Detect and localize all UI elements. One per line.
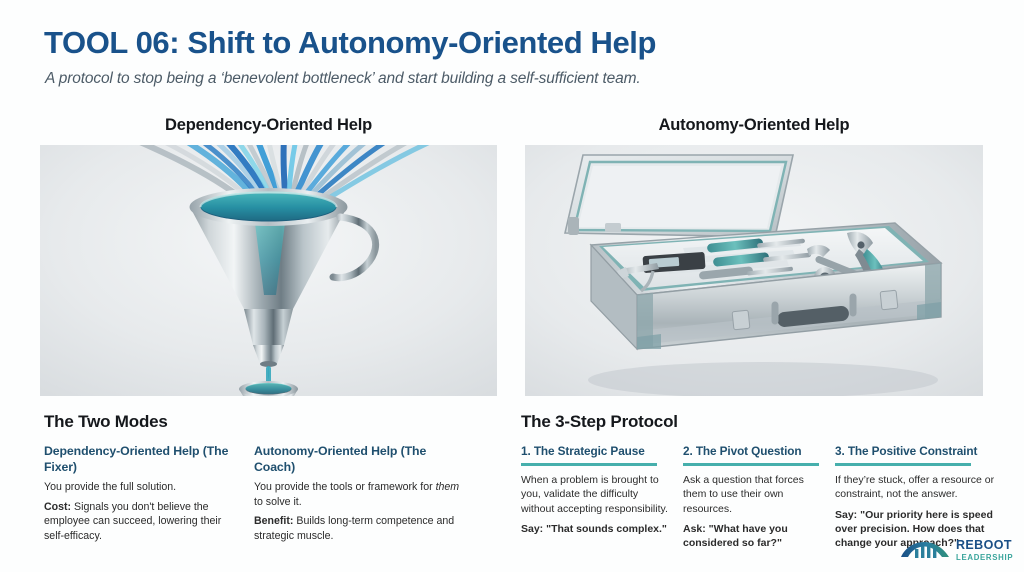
protocol-step-3-lead: If they’re stuck, offer a resource or co… [835, 473, 995, 502]
protocol-step-1-rule [521, 463, 657, 466]
mode-title-coach: Autonomy-Oriented Help (The Coach) [254, 444, 464, 475]
protocol-step-2-title: 2. The Pivot Question [683, 444, 829, 458]
mode-note-coach: Benefit: Builds long-term competence and… [254, 514, 464, 543]
mode-note-label-coach: Benefit: [254, 515, 293, 527]
section-heading-protocol: The 3-Step Protocol [521, 412, 678, 432]
mode-note-fixer: Cost: Signals you don't believe the empl… [44, 500, 244, 543]
protocol-step-3-title: 3. The Positive Constraint [835, 444, 995, 458]
mode-body-coach: You provide the tools or framework for t… [254, 480, 464, 543]
mode-lead-coach: You provide the tools or framework for t… [254, 480, 464, 509]
mode-lead-pre-coach: You provide the tools or framework for [254, 481, 436, 493]
protocol-step-3-quote-label: Say: [835, 509, 857, 521]
protocol-step-2-quote: Ask: "What have you considered so far?" [683, 522, 829, 551]
protocol-step-1-quote-text: "That sounds complex." [543, 523, 667, 535]
bridge-arch-icon: REBOOT LEADERSHIP [899, 533, 1015, 569]
logo-primary-text: REBOOT [956, 538, 1012, 552]
panel-caption-dependency: Dependency-Oriented Help [40, 116, 497, 135]
mode-note-label-fixer: Cost: [44, 501, 71, 513]
mode-title-fixer: Dependency-Oriented Help (The Fixer) [44, 444, 244, 475]
protocol-step-1-lead: When a problem is brought to you, valida… [521, 473, 673, 516]
mode-note-text-fixer: Signals you don't believe the employee c… [44, 501, 221, 542]
illustration-funnel [40, 145, 497, 396]
mode-card-fixer: Dependency-Oriented Help (The Fixer) You… [44, 444, 244, 543]
protocol-step-1-quote-label: Say: [521, 523, 543, 535]
page-title: TOOL 06: Shift to Autonomy-Oriented Help [44, 25, 656, 61]
toolbox-illustration-graphic [525, 145, 983, 396]
protocol-step-2-body: Ask a question that forces them to use t… [683, 473, 829, 550]
mode-lead-fixer: You provide the full solution. [44, 480, 244, 494]
protocol-step-2-lead: Ask a question that forces them to use t… [683, 473, 829, 516]
protocol-step-1: 1. The Strategic Pause When a problem is… [521, 444, 673, 536]
mode-lead-post-coach: to solve it. [254, 496, 302, 508]
protocol-step-2-rule [683, 463, 819, 466]
protocol-step-2: 2. The Pivot Question Ask a question tha… [683, 444, 829, 550]
protocol-step-1-body: When a problem is brought to you, valida… [521, 473, 673, 536]
section-heading-two-modes: The Two Modes [44, 412, 168, 432]
funnel-illustration-graphic [40, 145, 497, 396]
protocol-step-1-title: 1. The Strategic Pause [521, 444, 673, 458]
protocol-step-1-quote: Say: "That sounds complex." [521, 522, 673, 536]
illustration-toolbox [525, 145, 983, 396]
brand-logo: REBOOT LEADERSHIP [899, 533, 1015, 569]
logo-secondary-text: LEADERSHIP [956, 553, 1013, 562]
page-subtitle: A protocol to stop being a ‘benevolent b… [45, 70, 641, 88]
protocol-step-3-rule [835, 463, 971, 466]
mode-card-coach: Autonomy-Oriented Help (The Coach) You p… [254, 444, 464, 543]
panel-caption-autonomy: Autonomy-Oriented Help [525, 116, 983, 135]
protocol-step-2-quote-label: Ask: [683, 523, 706, 535]
mode-lead-emphasis-coach: them [436, 481, 460, 493]
mode-body-fixer: You provide the full solution. Cost: Sig… [44, 480, 244, 543]
